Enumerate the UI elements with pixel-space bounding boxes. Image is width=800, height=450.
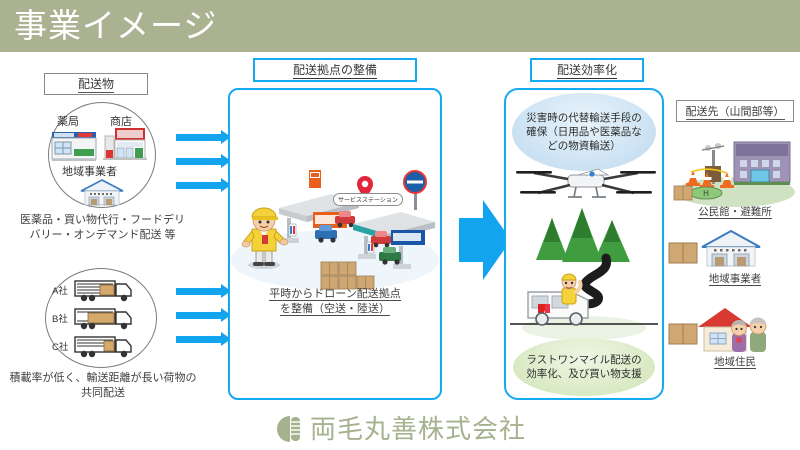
- svg-text:H: H: [703, 189, 709, 198]
- middle-header-label: 配送拠点の整備: [293, 61, 377, 79]
- destinations-header-label: 配送先（山間部等）: [686, 103, 785, 120]
- community-center-illustration: H: [672, 126, 798, 208]
- flow-arrow-bottom-1: [176, 288, 222, 295]
- flow-arrow-top-1: [176, 134, 222, 141]
- service-station-tag: サービスステーション: [333, 193, 403, 206]
- resident-house-icon: [698, 305, 776, 353]
- slide-canvas: 事業イメージ 配送物 薬局 商店 地域事業者: [0, 0, 800, 450]
- parcel-box-icon-2: [668, 323, 698, 345]
- warehouse-icon: [80, 178, 124, 206]
- flow-arrow-bottom-3: [176, 336, 222, 343]
- left-header-box: 配送物: [44, 73, 148, 95]
- middle-header-box: 配送拠点の整備: [253, 58, 417, 82]
- drone-icon: [512, 163, 658, 205]
- right-header-label: 配送効率化: [557, 61, 617, 79]
- right-header-box: 配送効率化: [530, 58, 644, 82]
- mountain-route-illustration: [510, 200, 658, 340]
- destination-label-2: 地域事業者: [674, 272, 796, 287]
- company-logo: 両毛丸善株式会社: [277, 414, 526, 444]
- middle-caption-line2: を整備（空送・陸送）: [280, 303, 390, 316]
- shop-building-icon: [103, 126, 147, 162]
- destination-label-3: 地域住民: [674, 355, 796, 370]
- company-mark-icon: [277, 415, 303, 443]
- left-header-label: 配送物: [78, 75, 114, 93]
- pharmacy-building-icon: [50, 128, 98, 162]
- truck-icon-b: [74, 307, 134, 331]
- local-business-label: 地域事業者: [62, 163, 117, 179]
- truck-label-a: A社: [52, 283, 68, 297]
- flow-arrow-bottom-2: [176, 312, 222, 319]
- company-name: 両毛丸善株式会社: [310, 414, 526, 444]
- destination-label-1: 公民館・避難所: [674, 205, 796, 220]
- flow-arrow-top-3: [176, 182, 222, 189]
- truck-label-c: C社: [52, 339, 68, 353]
- truck-icon-a: [74, 279, 134, 303]
- page-title: 事業イメージ: [14, 4, 217, 48]
- flow-arrow-top-2: [176, 158, 222, 165]
- truck-icon-c: [74, 335, 134, 359]
- truck-label-b: B社: [52, 311, 68, 325]
- left-top-caption: 医薬品・買い物代行・フードデリバリー・オンデマンド配送 等: [20, 213, 185, 243]
- middle-caption-line1: 平時からドローン配送拠点: [269, 288, 400, 301]
- destinations-header-box: 配送先（山間部等）: [676, 100, 794, 122]
- local-business-warehouse-icon: [700, 228, 762, 268]
- disaster-transport-bubble: 災害時の代替輸送手段の確保（日用品や医薬品などの物資輸送）: [512, 93, 656, 171]
- parcel-box-icon-1: [668, 242, 698, 264]
- pharmacy-label: 薬局: [57, 113, 79, 129]
- attendant-character-icon: [238, 205, 290, 269]
- left-bottom-caption: 積載率が低く、輸送距離が長い荷物の共同配送: [8, 371, 198, 401]
- last-one-mile-bubble: ラストワンマイル配送の効率化、及び買い物支援: [513, 338, 655, 396]
- middle-caption: 平時からドローン配送拠点 を整備（空送・陸送）: [252, 287, 418, 317]
